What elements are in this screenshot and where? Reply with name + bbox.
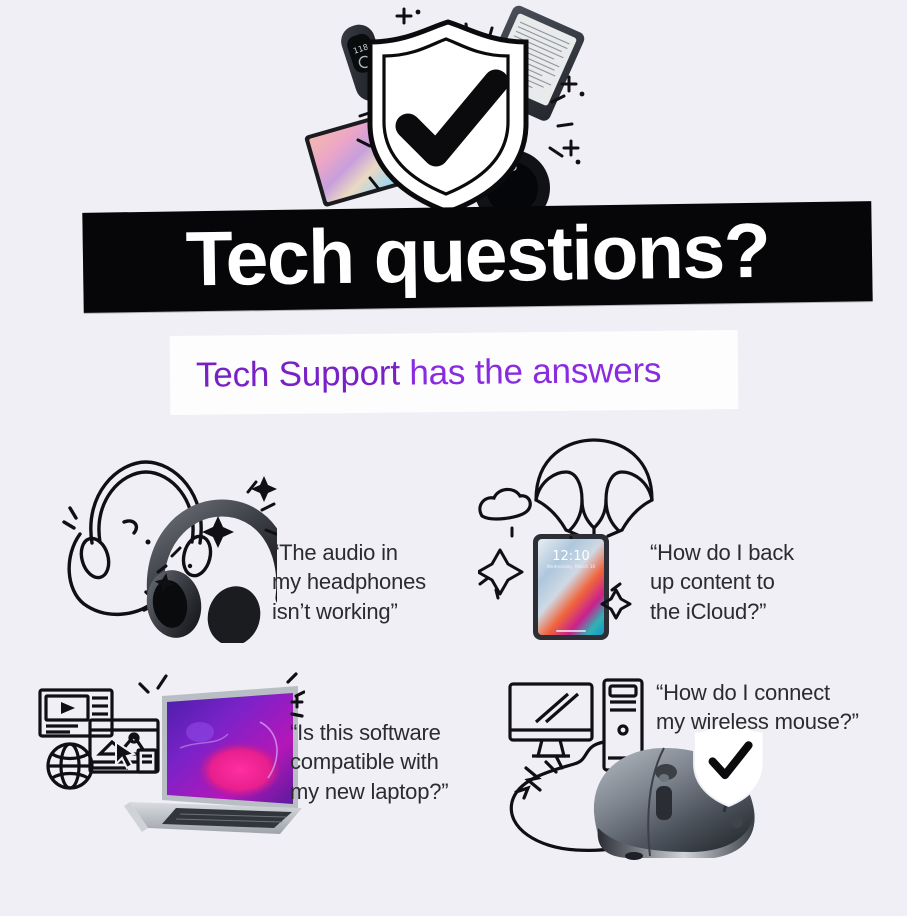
laptop-illustration [30, 662, 305, 852]
subtitle-rest: has the answers [400, 350, 662, 392]
promo-graphic: 118 [0, 0, 907, 916]
headline-banner: Tech questions? [82, 201, 872, 313]
spark-icon [516, 756, 562, 798]
subtitle-brand: Tech Support [196, 353, 400, 394]
quote-mouse: “How do I connect my wireless mouse?” [656, 678, 859, 737]
tablet-time: 12:10 [552, 549, 589, 564]
subtitle-banner: Tech Support has the answers [170, 330, 739, 415]
tablet-date: Wednesday, March 10 [547, 564, 596, 570]
parachute-outline-icon [536, 440, 652, 536]
hero-illustration: 118 [300, 0, 620, 215]
desktop-monitor-icon [510, 684, 592, 756]
headphones-illustration [62, 438, 277, 643]
globe-icon [48, 744, 92, 788]
quote-software: “Is this software compatible with my new… [290, 718, 448, 806]
cloud-outline-icon [480, 489, 530, 519]
sound-wave-arrow-icon [64, 508, 158, 614]
subtitle: Tech Support has the answers [196, 350, 662, 395]
quote-headphones: “The audio in my headphones isn’t workin… [272, 538, 426, 626]
tablet-parachute-illustration: 12:10 Wednesday, March 10 [478, 438, 658, 643]
quote-icloud: “How do I back up content to the iCloud?… [650, 538, 794, 626]
page-title: Tech questions? [185, 212, 770, 298]
tablet-device: 12:10 Wednesday, March 10 [533, 534, 609, 640]
headphones-product-image [142, 508, 277, 643]
